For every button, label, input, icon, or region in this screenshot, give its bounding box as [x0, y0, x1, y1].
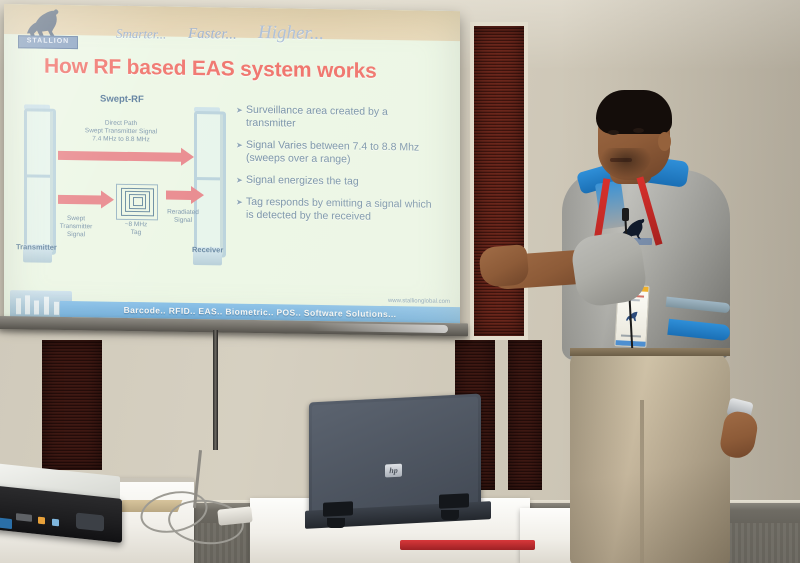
- tag-caption: ~8 MHz Tag: [114, 221, 158, 238]
- swept-rf-diagram: Swept-RF Transmitter Receiver Direct P: [16, 92, 234, 280]
- photo-scene: STALLION Smarter... Faster... Higher... …: [0, 0, 800, 563]
- transmitter-label: Transmitter: [16, 242, 57, 252]
- tagline-word-2: Faster...: [188, 26, 237, 44]
- screen-tripod-pole: [213, 330, 218, 450]
- receiver-label: Receiver: [192, 245, 223, 254]
- slide: STALLION Smarter... Faster... Higher... …: [4, 4, 460, 329]
- projector-lens: [76, 513, 104, 532]
- projector: [0, 470, 150, 548]
- projector-indicator-blue: [52, 519, 59, 527]
- swept-transmitter-caption: Swept Transmitter Signal: [50, 215, 102, 240]
- reradiated-caption: Reradiated Signal: [160, 208, 206, 225]
- horse-logo-icon: [24, 7, 68, 38]
- laptop: hp: [305, 398, 505, 538]
- presenter-mic-clip: [622, 208, 629, 221]
- slide-footer-services: Barcode.. RFID.. EAS.. Biometric.. POS..…: [124, 305, 397, 319]
- list-item: Surveillance area created by a transmitt…: [236, 104, 436, 133]
- slide-tagline: Smarter... Faster... Higher...: [116, 18, 346, 46]
- reradiated-arrow: [166, 191, 192, 200]
- list-item: Signal Varies between 7.4 to 8.8 Mhz (sw…: [236, 139, 436, 168]
- laptop-hinge-right: [439, 493, 469, 509]
- list-item: Tag responds by emitting a signal which …: [236, 196, 436, 225]
- slide-url: www.stallionglobal.com: [388, 298, 450, 305]
- laptop-hinge-left: [323, 501, 353, 517]
- presenter-hair: [596, 90, 672, 134]
- direct-path-arrow: [58, 151, 182, 162]
- presenter: [470, 100, 800, 563]
- presenter-eye-left: [608, 130, 619, 135]
- swept-transmitter-arrow: [58, 195, 102, 205]
- logo-wordmark: STALLION: [18, 35, 78, 49]
- direct-path-caption: Direct Path Swept Transmitter Signal 7.4…: [66, 119, 176, 145]
- presenter-sleeve: [569, 229, 648, 308]
- tagline-word-3: Higher...: [258, 22, 324, 45]
- slide-bullet-list: Surveillance area created by a transmitt…: [236, 104, 436, 234]
- wooden-louver-panel-far-left: [42, 340, 102, 470]
- presenter-eye-right: [633, 128, 644, 133]
- presenter-hand: [478, 244, 529, 288]
- tagline-word-1: Smarter...: [116, 26, 166, 43]
- presenter-belt: [570, 348, 730, 356]
- diagram-heading: Swept-RF: [100, 94, 144, 106]
- hp-logo-icon: hp: [385, 464, 402, 478]
- presenter-pants-shadow: [570, 350, 730, 563]
- stallion-logo: STALLION: [16, 7, 78, 50]
- laptop-foot-right: [441, 510, 459, 520]
- rf-tag-icon: [116, 184, 158, 221]
- laptop-foot-left: [327, 518, 345, 528]
- list-item: Signal energizes the tag: [236, 174, 436, 190]
- projection-screen: STALLION Smarter... Faster... Higher... …: [4, 4, 460, 329]
- projector-indicator-amber: [38, 517, 45, 525]
- projector-indicator-cyan: [0, 517, 12, 529]
- presenter-ear: [658, 132, 671, 151]
